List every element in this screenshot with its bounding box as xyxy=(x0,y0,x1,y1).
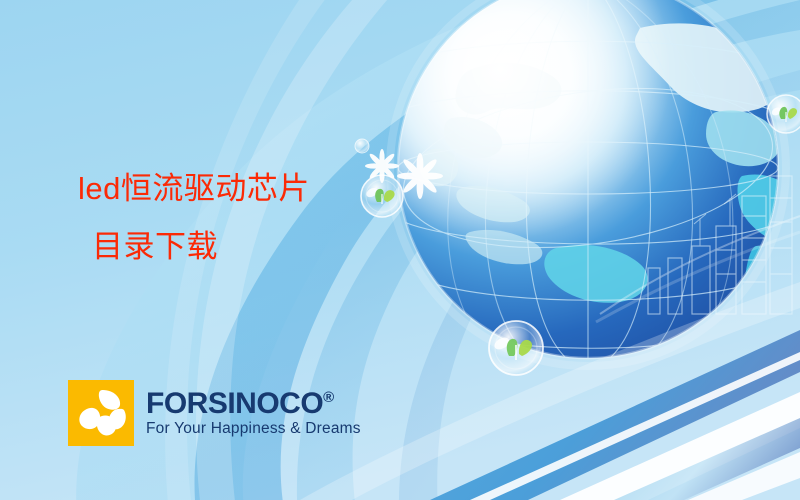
logo-wordmark: FORSINOCO® xyxy=(146,389,361,420)
ribbon-bottom-right xyxy=(300,282,800,500)
bubble-lower xyxy=(489,321,543,375)
bubble-right-edge xyxy=(767,95,800,133)
headline-line-2: 目录下载 xyxy=(78,218,408,276)
headline-text: led恒流驱动芯片 目录下载 xyxy=(78,160,408,276)
logo-text-block: FORSINOCO® For Your Happiness & Dreams xyxy=(146,389,361,438)
headline-line-1: led恒流驱动芯片 xyxy=(78,160,408,218)
four-petal-pinwheel-icon xyxy=(68,380,134,446)
logo-tagline: For Your Happiness & Dreams xyxy=(146,421,361,437)
city-skyline xyxy=(596,176,800,322)
globe-graphic xyxy=(390,0,800,366)
promo-banner: led恒流驱动芯片 目录下载 FORSINOCO® For Your Happi… xyxy=(0,0,800,500)
logo-wordmark-text: FORSINOCO xyxy=(146,387,323,420)
bubble-tiny xyxy=(355,139,369,153)
registered-trademark-icon: ® xyxy=(323,389,334,406)
company-logo[interactable]: FORSINOCO® For Your Happiness & Dreams xyxy=(68,380,361,446)
